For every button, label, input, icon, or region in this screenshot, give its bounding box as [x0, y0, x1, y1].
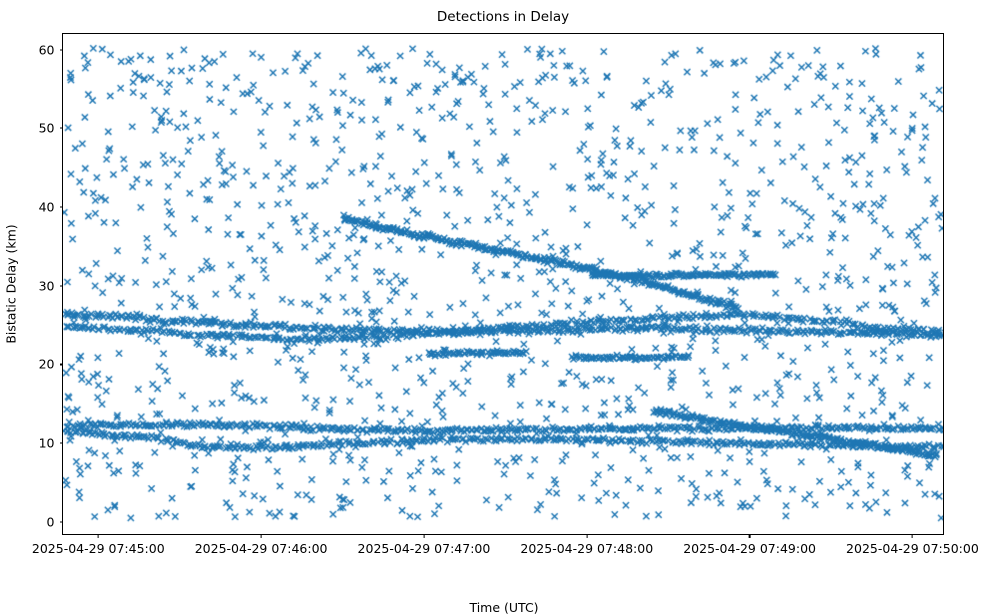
y-tick: 50	[39, 121, 63, 136]
x-tick: 2025-04-29 07:46:00	[195, 534, 328, 556]
x-tick: 2025-04-29 07:45:00	[32, 534, 165, 556]
y-tick-mark	[60, 207, 64, 208]
x-tick-mark	[98, 534, 99, 538]
y-tick-label: 0	[47, 514, 55, 529]
x-tick-label: 2025-04-29 07:50:00	[846, 541, 979, 556]
y-tick-mark	[60, 521, 64, 522]
x-tick: 2025-04-29 07:47:00	[358, 534, 491, 556]
plot-axes: Bistatic Delay (km) Time (UTC) 010203040…	[62, 33, 944, 535]
x-tick-label: 2025-04-29 07:45:00	[32, 541, 165, 556]
y-tick-label: 40	[39, 200, 55, 215]
x-tick-mark	[749, 534, 750, 538]
y-axis-label: Bistatic Delay (km)	[4, 224, 19, 343]
y-tick-mark	[60, 443, 64, 444]
scatter-plot-canvas	[63, 34, 943, 534]
x-tick-label: 2025-04-29 07:49:00	[683, 541, 816, 556]
x-tick-label: 2025-04-29 07:47:00	[358, 541, 491, 556]
y-tick: 40	[39, 200, 63, 215]
y-tick-mark	[60, 364, 64, 365]
figure: Detections in Delay Bistatic Delay (km) …	[0, 0, 984, 590]
y-tick: 20	[39, 357, 63, 372]
x-tick-mark	[586, 534, 587, 538]
y-tick-mark	[60, 285, 64, 286]
x-tick-label: 2025-04-29 07:48:00	[520, 541, 653, 556]
y-tick-label: 50	[39, 121, 55, 136]
y-tick: 0	[47, 514, 63, 529]
x-tick-mark	[912, 534, 913, 538]
x-tick-mark	[261, 534, 262, 538]
x-tick: 2025-04-29 07:50:00	[846, 534, 979, 556]
y-tick-label: 20	[39, 357, 55, 372]
y-tick-label: 10	[39, 436, 55, 451]
x-tick-label: 2025-04-29 07:46:00	[195, 541, 328, 556]
y-tick: 60	[39, 42, 63, 57]
y-tick: 10	[39, 436, 63, 451]
x-tick: 2025-04-29 07:48:00	[520, 534, 653, 556]
y-tick-mark	[60, 49, 64, 50]
x-axis-label: Time (UTC)	[469, 600, 538, 615]
x-tick: 2025-04-29 07:49:00	[683, 534, 816, 556]
y-tick: 30	[39, 278, 63, 293]
y-tick-label: 30	[39, 278, 55, 293]
x-tick-mark	[423, 534, 424, 538]
y-tick-label: 60	[39, 42, 55, 57]
y-tick-mark	[60, 128, 64, 129]
chart-title: Detections in Delay	[62, 9, 944, 25]
